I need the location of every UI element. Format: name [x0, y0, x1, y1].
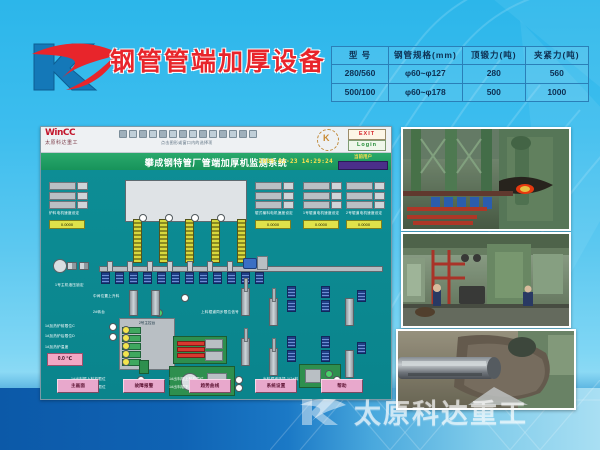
cell-clamp-force: 560 — [525, 65, 588, 83]
meter-row — [346, 182, 386, 190]
meter-unit-box — [331, 192, 342, 200]
coil-indicator — [129, 272, 138, 284]
coil-indicator — [321, 300, 330, 312]
tag-label: 1#加热炉后限位D — [45, 334, 75, 339]
furnace-column — [211, 219, 220, 263]
hmi-mimic-diagram: 炉料电机速度设定 0.0000 辊式输料电机速度设定 0.0000 — [41, 170, 391, 399]
tag-label: 中间位置上升料 — [93, 294, 120, 299]
table-row: 280/560 φ60~φ127 280 560 — [332, 65, 589, 83]
meter-unit-box — [77, 182, 88, 190]
meter-value-box — [49, 201, 76, 209]
pump-icon — [53, 259, 67, 273]
toolbar-open-icon[interactable] — [129, 130, 137, 138]
toolbar-redo-icon[interactable] — [199, 130, 207, 138]
toolbar-print-icon[interactable] — [149, 130, 157, 138]
coil-indicator — [287, 286, 296, 298]
toolbar-zoom-icon[interactable] — [209, 130, 217, 138]
cylinder-rod — [272, 288, 276, 302]
status-lamp — [235, 376, 243, 384]
table-header-row: 型 号 钢管规格(mm) 顶锻力(吨) 夹紧力(吨) — [332, 47, 589, 65]
toolbar-icon-row[interactable] — [119, 130, 257, 138]
meter-setpoint-field[interactable]: 0.0000 — [255, 220, 291, 229]
meter-setpoint-field[interactable]: 0.0000 — [303, 220, 339, 229]
meter-value-box — [255, 182, 282, 190]
cell-model: 500/100 — [332, 83, 389, 101]
current-user-label: 当前用户 — [338, 154, 388, 160]
tag-label: 2#转台 — [93, 310, 105, 315]
cell-pipe-spec: φ60~φ127 — [389, 65, 463, 83]
toolbar-run-icon[interactable] — [249, 130, 257, 138]
tag-label: 1号主机液压锁定 — [55, 283, 84, 288]
watermark-k-logo-icon — [300, 395, 346, 429]
column-header-clamp-force: 夹紧力(吨) — [525, 47, 588, 65]
cell-pipe-spec: φ60~φ178 — [389, 83, 463, 101]
meter-unit-box — [374, 201, 385, 209]
cell-upset-force: 280 — [462, 65, 525, 83]
column-header-upset-force: 顶锻力(吨) — [462, 47, 525, 65]
watermark: 太原科达重工 — [300, 392, 528, 431]
specification-table: 型 号 钢管规格(mm) 顶锻力(吨) 夹紧力(吨) 280/560 φ60~φ… — [331, 46, 589, 102]
coil-indicator — [287, 300, 296, 312]
coil-indicator — [143, 272, 152, 284]
table-row: 500/100 φ60~φ178 500 1000 — [332, 83, 589, 101]
lamp-panel-row — [122, 335, 172, 342]
meter-unit-box — [77, 201, 88, 209]
column-header-model: 型 号 — [332, 47, 389, 65]
meter-value-box — [346, 192, 373, 200]
hmi-button-settings[interactable]: 系统设置 — [255, 379, 297, 393]
wincc-logo: WinCC 太原科达重工 — [45, 128, 111, 146]
meter-row — [346, 192, 386, 200]
conveyor-roller — [107, 261, 113, 272]
cell-model: 280/560 — [332, 65, 389, 83]
hmi-button-alarm[interactable]: 故障报警 — [123, 379, 165, 393]
furnace-lamp — [165, 214, 173, 222]
furnace-column — [133, 219, 142, 263]
hmi-button-trend[interactable]: 趋势曲线 — [189, 379, 231, 393]
temperature-caption: 1#加热炉温度 — [45, 345, 68, 350]
meter-row — [346, 201, 386, 209]
meter-caption: 炉料电机速度设定 — [49, 211, 89, 216]
lamp-panel-title: 2号主控台 — [122, 321, 172, 326]
wincc-wordmark: WinCC — [45, 128, 111, 138]
status-lamp — [235, 384, 243, 392]
page-header: 钢管管端加厚设备 — [32, 36, 302, 92]
coil-indicator — [227, 272, 236, 284]
meter-unit-box — [283, 201, 294, 209]
toolbar-help-icon[interactable] — [239, 130, 247, 138]
hydraulic-cylinder — [151, 290, 160, 316]
coil-indicator — [321, 350, 330, 362]
meter-row — [255, 192, 295, 200]
furnace-lamp — [191, 214, 199, 222]
current-user-box: 当前用户 — [338, 154, 388, 170]
toolbar-paste-icon[interactable] — [179, 130, 187, 138]
meter-value-box — [346, 201, 373, 209]
hmi-button-help[interactable]: 帮助 — [321, 379, 363, 393]
meter-unit-box — [77, 192, 88, 200]
gauge-icon: K — [317, 129, 339, 151]
hydraulic-cylinder — [269, 298, 278, 326]
meter-unit-box — [331, 201, 342, 209]
cell-upset-force: 500 — [462, 83, 525, 101]
toolbar-hint-text: 点击图形或窗口内的选择项 — [161, 140, 213, 146]
coil-indicator — [157, 272, 166, 284]
process-grey-box — [205, 339, 223, 349]
coil-indicator — [357, 290, 366, 302]
meter-caption: 1号辊道电机速度设定 — [303, 211, 343, 216]
meter-value-box — [303, 182, 330, 190]
meter-row — [255, 182, 295, 190]
hmi-datetime: 2009-02-23 14:29:24 — [259, 158, 333, 165]
meter-value-box — [49, 182, 76, 190]
hmi-toolbar: WinCC 太原科达重工 点击图形或窗口内的选择项 — [41, 127, 391, 153]
valve-block — [139, 360, 149, 374]
meter-row — [303, 182, 343, 190]
coil-indicator — [287, 350, 296, 362]
coil-indicator — [255, 272, 264, 284]
temperature-value: 0.0 ℃ — [47, 353, 83, 366]
lamp-panel-row — [122, 343, 172, 350]
process-grey-box — [305, 369, 321, 383]
meter-unit-box — [374, 192, 385, 200]
meter-value-box — [255, 201, 282, 209]
conveyor-roller — [207, 261, 213, 272]
hydraulic-cylinder — [241, 338, 250, 366]
photo-workshop-hot-pipe — [401, 127, 571, 231]
meter-caption: 2号辊道电机速度设定 — [346, 211, 386, 216]
meter-group: 1号辊道电机速度设定 0.0000 — [303, 182, 343, 229]
gauge-letter: K — [323, 133, 330, 143]
coil-indicator — [321, 336, 330, 348]
meter-value-box — [255, 192, 282, 200]
meter-setpoint-field[interactable]: 0.0000 — [49, 220, 85, 229]
current-user-field[interactable] — [338, 161, 388, 170]
cylinder-rod — [244, 278, 248, 292]
conveyor-roller — [127, 261, 133, 272]
exit-button[interactable]: EXIT — [348, 129, 386, 140]
slide-page: 钢管管端加厚设备 型 号 钢管规格(mm) 顶锻力(吨) 夹紧力(吨) 280/… — [0, 0, 600, 450]
coil-indicator — [321, 286, 330, 298]
tag-label: 上料辊道同步限位信号 — [201, 310, 239, 315]
hydraulic-cylinder — [269, 348, 278, 376]
meter-value-box — [346, 182, 373, 190]
status-lamp — [181, 294, 189, 302]
coil-indicator — [357, 342, 366, 354]
hmi-button-main-screen[interactable]: 主画面 — [57, 379, 99, 393]
conveyor-roller — [147, 261, 153, 272]
valve-icon — [79, 262, 89, 270]
toolbar-cut-icon[interactable] — [159, 130, 167, 138]
conveyor-roller — [227, 261, 233, 272]
conveyor-roller — [167, 261, 173, 272]
toolbar-save-icon[interactable] — [139, 130, 147, 138]
process-bar — [177, 347, 205, 352]
photo-1-graphic — [403, 129, 569, 229]
cylinder-rod — [244, 328, 248, 342]
photo-forging-machine-line — [401, 232, 571, 328]
meter-group: 2号辊道电机速度设定 0.0000 — [346, 182, 386, 229]
toolbar-new-icon[interactable] — [119, 130, 127, 138]
hydraulic-cylinder — [345, 350, 354, 378]
wincc-subtitle: 太原科达重工 — [45, 139, 111, 146]
meter-value-box — [49, 192, 76, 200]
coil-indicator — [185, 272, 194, 284]
lamp-panel-row — [122, 327, 172, 334]
meter-row — [303, 201, 343, 209]
meter-unit-box — [283, 182, 294, 190]
coil-indicator — [115, 272, 124, 284]
hydraulic-cylinder — [129, 290, 138, 316]
meter-setpoint-field[interactable]: 0.0000 — [346, 220, 382, 229]
toolbar-copy-icon[interactable] — [169, 130, 177, 138]
meter-row — [49, 192, 89, 200]
process-bar — [177, 341, 205, 346]
meter-unit-box — [283, 192, 294, 200]
valve-icon — [67, 262, 77, 270]
furnace-lamp — [217, 214, 225, 222]
meter-row — [49, 201, 89, 209]
coil-indicator — [101, 272, 110, 284]
meter-row — [255, 201, 295, 209]
meter-group: 辊式输料电机速度设定 0.0000 — [255, 182, 295, 229]
meter-unit-box — [374, 182, 385, 190]
coil-indicator — [199, 272, 208, 284]
furnace-column — [185, 219, 194, 263]
furnace-lamp — [139, 214, 147, 222]
photo-2-graphic — [403, 234, 569, 326]
meter-value-box — [303, 201, 330, 209]
hydraulic-cylinder — [241, 288, 250, 316]
coil-indicator — [171, 272, 180, 284]
login-button[interactable]: Login — [348, 140, 386, 151]
hmi-screenshot: WinCC 太原科达重工 点击图形或窗口内的选择项 — [40, 126, 392, 400]
furnace-column — [159, 219, 168, 263]
process-bar — [177, 353, 205, 358]
watermark-text: 太原科达重工 — [354, 392, 528, 431]
drive-motor-icon — [243, 258, 257, 269]
hmi-banner: 攀成钢特管厂管端加厚机监测系统 2009-02-23 14:29:24 当前用户 — [41, 153, 391, 170]
meter-row — [49, 182, 89, 190]
process-grey-box — [205, 351, 223, 361]
toolbar-align-icon[interactable] — [229, 130, 237, 138]
hydraulic-cylinder — [345, 298, 354, 326]
meter-caption: 辊式输料电机速度设定 — [255, 211, 295, 216]
meter-unit-box — [331, 182, 342, 190]
status-lamp — [109, 333, 117, 341]
conveyor-roller — [187, 261, 193, 272]
meter-row — [303, 192, 343, 200]
column-header-pipe-spec: 钢管规格(mm) — [389, 47, 463, 65]
tag-label: 1#加热炉前限位C — [45, 324, 75, 329]
status-lamp — [109, 323, 117, 331]
furnace-column — [237, 219, 246, 263]
status-lamp — [325, 370, 333, 378]
toolbar-grid-icon[interactable] — [219, 130, 227, 138]
motor-control-box — [257, 256, 268, 270]
cell-clamp-force: 1000 — [525, 83, 588, 101]
page-title: 钢管管端加厚设备 — [110, 42, 326, 78]
cylinder-rod — [272, 338, 276, 352]
coil-indicator — [213, 272, 222, 284]
coil-indicator — [287, 336, 296, 348]
meter-value-box — [303, 192, 330, 200]
meter-group: 炉料电机速度设定 0.0000 — [49, 182, 89, 229]
lamp-panel-row — [122, 351, 172, 358]
toolbar-undo-icon[interactable] — [189, 130, 197, 138]
